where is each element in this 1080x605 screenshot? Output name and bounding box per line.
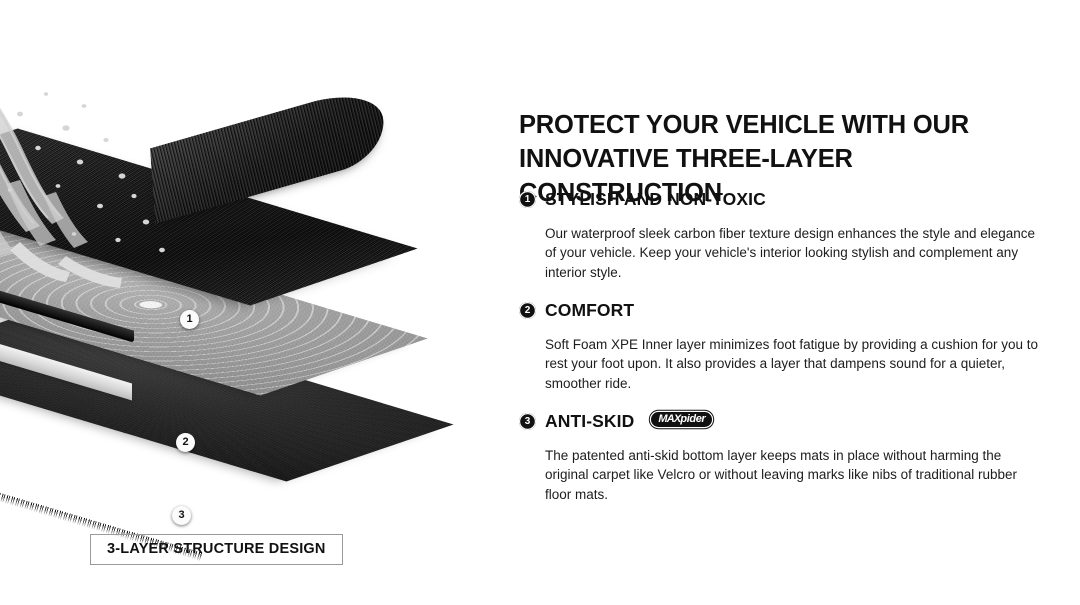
- feature-3-header: 3 ANTI-SKID MAXpider: [519, 411, 1059, 432]
- feature-number-badge-1: 1: [519, 191, 536, 208]
- feature-title-2: COMFORT: [545, 300, 634, 321]
- feature-body-1: Our waterproof sleek carbon fiber textur…: [545, 224, 1045, 284]
- brand-logo-pider: pider: [680, 413, 705, 425]
- headline-line-1: PROTECT YOUR VEHICLE WITH OUR: [519, 109, 1059, 143]
- three-layer-mat-illustration: 1 2 3 3-LAYER STRUCTURE DESIGN: [0, 0, 470, 605]
- content-column: PROTECT YOUR VEHICLE WITH OUR INNOVATIVE…: [519, 0, 1064, 605]
- brand-logo-max: MAX: [658, 413, 680, 425]
- feature-body-2: Soft Foam XPE Inner layer minimizes foot…: [545, 335, 1045, 395]
- structure-caption: 3-LAYER STRUCTURE DESIGN: [90, 534, 343, 565]
- mat-stage: 1 2 3: [0, 120, 460, 500]
- infographic-page: 1 2 3 3-LAYER STRUCTURE DESIGN PROTECT Y…: [0, 0, 1080, 605]
- feature-list: 1 STYLISH AND NON-TOXIC Our waterproof s…: [519, 189, 1059, 519]
- feature-item-stylish-and-non-toxic: 1 STYLISH AND NON-TOXIC Our waterproof s…: [519, 189, 1059, 283]
- feature-title-3: ANTI-SKID: [545, 411, 634, 432]
- carbon-layer-curled-tip: [150, 82, 386, 224]
- callout-marker-1: 1: [180, 310, 199, 329]
- feature-number-badge-3: 3: [519, 413, 536, 430]
- callout-marker-2: 2: [176, 433, 195, 452]
- callout-marker-3: 3: [172, 506, 191, 525]
- maxpider-brand-logo: MAXpider: [651, 412, 712, 428]
- feature-body-3: The patented anti-skid bottom layer keep…: [545, 446, 1045, 506]
- feature-item-comfort: 2 COMFORT Soft Foam XPE Inner layer mini…: [519, 300, 1059, 394]
- carbon-fiber-top-layer: [0, 122, 334, 312]
- feature-1-header: 1 STYLISH AND NON-TOXIC: [519, 189, 1059, 210]
- feature-2-header: 2 COMFORT: [519, 300, 1059, 321]
- feature-title-1: STYLISH AND NON-TOXIC: [545, 189, 766, 210]
- feature-item-anti-skid: 3 ANTI-SKID MAXpider The patented anti-s…: [519, 411, 1059, 505]
- feature-number-badge-2: 2: [519, 302, 536, 319]
